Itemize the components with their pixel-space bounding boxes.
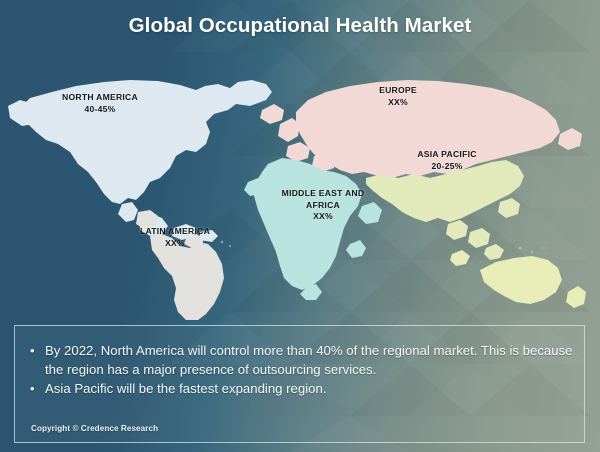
map-region-asia-pacific[interactable] (366, 160, 586, 308)
region-label-latin-america: LATIN AMERICA XX% (120, 226, 230, 249)
list-item: • Asia Pacific will be the fastest expan… (28, 380, 576, 399)
list-item-text: Asia Pacific will be the fastest expandi… (45, 381, 327, 396)
map-region-mea[interactable] (244, 158, 382, 300)
list-item-text: By 2022, North America will control more… (45, 343, 573, 377)
list-item: • By 2022, North America will control mo… (28, 342, 576, 379)
insights-callout-box: • By 2022, North America will control mo… (14, 325, 585, 443)
page-title: Global Occupational Health Market (0, 14, 600, 38)
infographic-slide: Global Occupational Health Market (0, 0, 600, 452)
region-label-europe: EUROPE XX% (352, 85, 444, 108)
bullet-glyph-icon: • (30, 342, 35, 361)
region-label-asia-pacific: ASIA PACIFIC 20-25% (396, 149, 498, 172)
bullet-glyph-icon: • (30, 380, 35, 399)
region-label-north-america: NORTH AMERICA 40-45% (34, 92, 166, 115)
region-label-middle-east-and-africa: MIDDLE EAST AND AFRICA XX% (262, 188, 384, 223)
insights-bullet-list: • By 2022, North America will control mo… (28, 342, 576, 400)
copyright-notice: Copyright © Credence Research (31, 424, 158, 433)
